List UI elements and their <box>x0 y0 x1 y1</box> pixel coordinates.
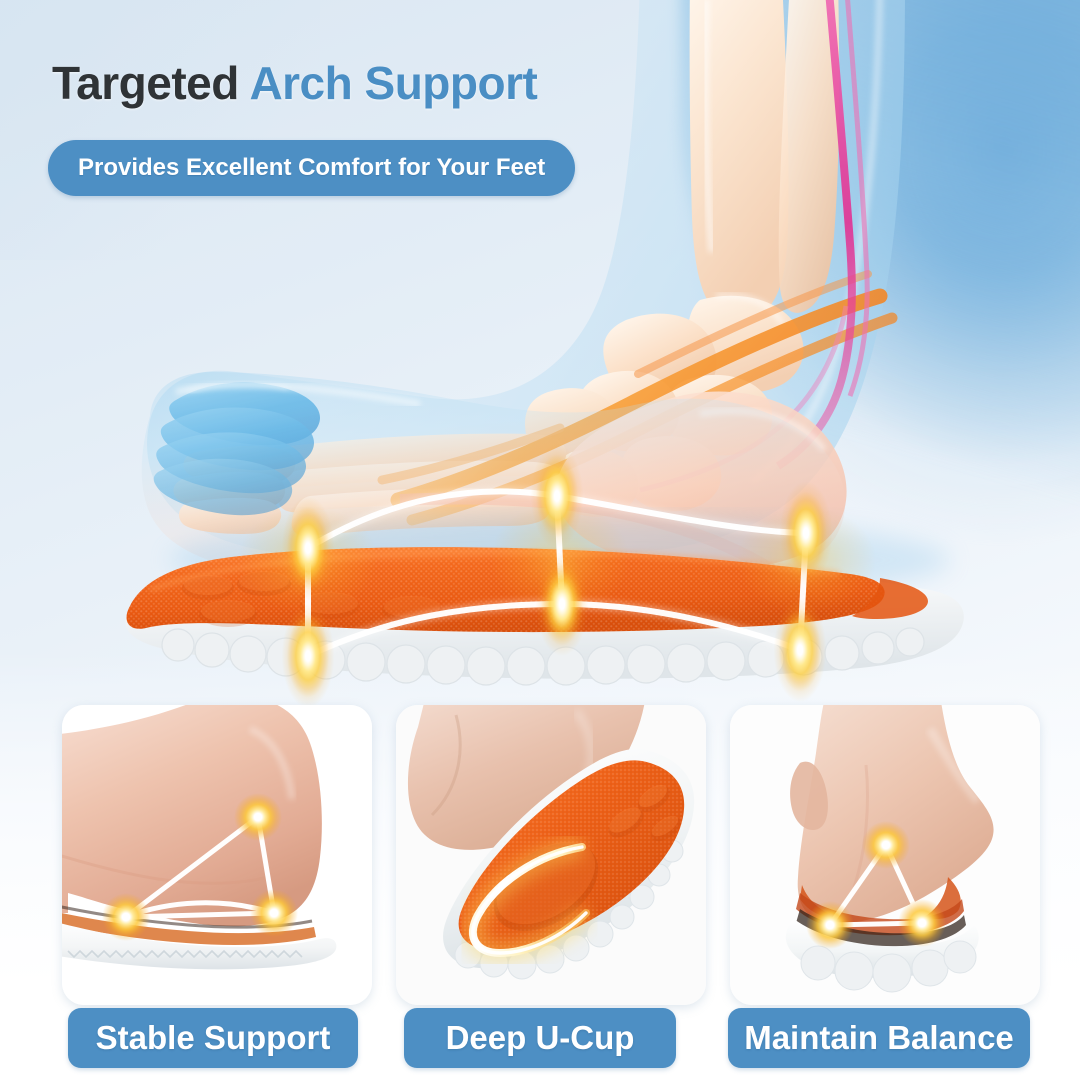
subtitle-pill: Provides Excellent Comfort for Your Feet <box>48 140 575 196</box>
feature-card-stable-support[interactable] <box>62 705 372 1005</box>
label-text-maintain-balance: Maintain Balance <box>744 1019 1014 1057</box>
page-title-part1: Targeted <box>52 57 249 109</box>
label-pill-deep-u-cup[interactable]: Deep U-Cup <box>404 1008 676 1068</box>
page-title-part2: Arch Support <box>249 57 537 109</box>
label-pill-maintain-balance[interactable]: Maintain Balance <box>728 1008 1030 1068</box>
feature-card-row <box>0 705 1080 1005</box>
subtitle-text: Provides Excellent Comfort for Your Feet <box>78 154 545 182</box>
feature-card-deep-u-cup[interactable] <box>396 705 706 1005</box>
label-pill-stable-support[interactable]: Stable Support <box>68 1008 358 1068</box>
page-title: Targeted Arch Support <box>52 56 537 110</box>
feature-label-row: Stable Support Deep U-Cup Maintain Balan… <box>0 1008 1080 1070</box>
label-text-stable-support: Stable Support <box>96 1019 331 1057</box>
lower-leg-bones <box>690 0 840 322</box>
product-feature-graphic: Targeted Arch Support Provides Excellent… <box>0 0 1080 1080</box>
feature-card-maintain-balance[interactable] <box>730 705 1040 1005</box>
label-text-deep-u-cup: Deep U-Cup <box>446 1019 635 1057</box>
